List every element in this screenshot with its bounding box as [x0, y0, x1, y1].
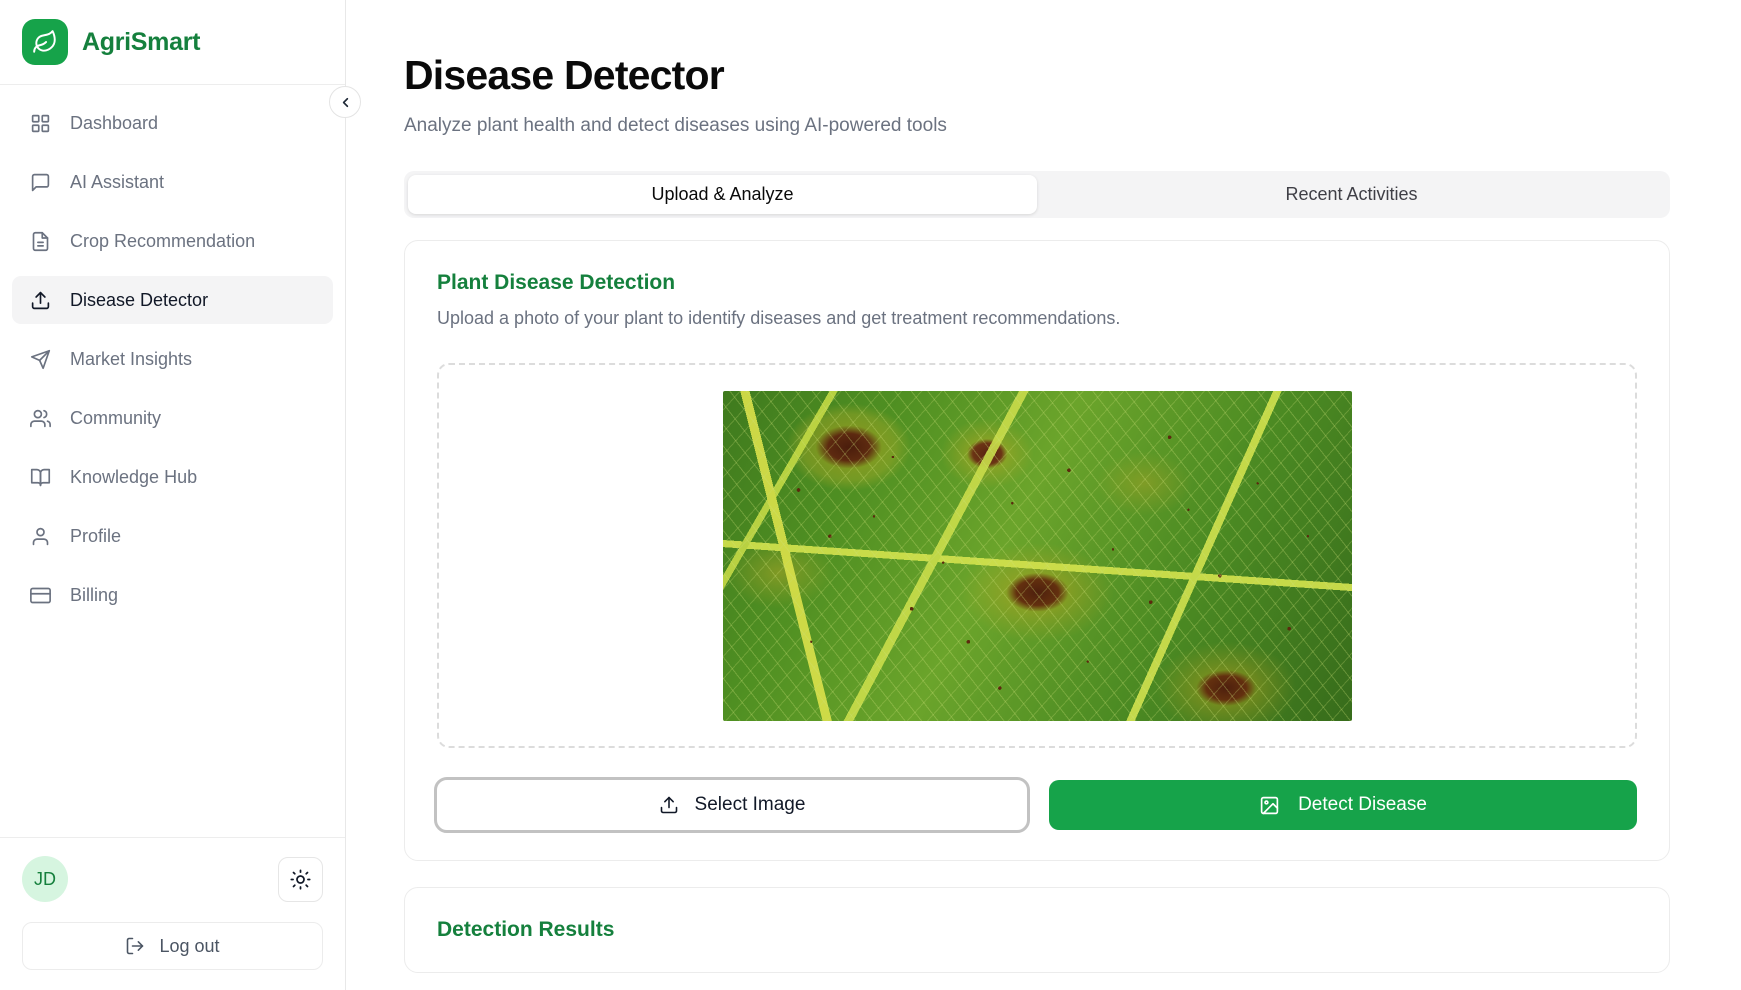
sidebar-item-label: Crop Recommendation: [70, 231, 255, 252]
sidebar-item-profile[interactable]: Profile: [12, 512, 333, 560]
leaf-icon: [22, 19, 68, 65]
sidebar-item-label: Profile: [70, 526, 121, 547]
card-actions: Select Image Detect Disease: [437, 780, 1637, 830]
grid-icon: [28, 111, 52, 135]
page-title: Disease Detector: [404, 52, 1701, 99]
sidebar-footer: JD Log out: [0, 837, 345, 990]
credit-card-icon: [28, 583, 52, 607]
tab-recent-activities[interactable]: Recent Activities: [1037, 175, 1666, 214]
sidebar-item-ai-assistant[interactable]: AI Assistant: [12, 158, 333, 206]
sidebar-item-label: AI Assistant: [70, 172, 164, 193]
sidebar-item-label: Community: [70, 408, 161, 429]
upload-icon: [28, 288, 52, 312]
book-open-icon: [28, 465, 52, 489]
sidebar-item-market-insights[interactable]: Market Insights: [12, 335, 333, 383]
detect-disease-label: Detect Disease: [1298, 794, 1427, 816]
app-root: AgriSmart Dashboard AI Assistant: [0, 0, 1741, 990]
plant-disease-detection-card: Plant Disease Detection Upload a photo o…: [404, 240, 1670, 861]
sidebar-item-crop-recommendation[interactable]: Crop Recommendation: [12, 217, 333, 265]
logout-label: Log out: [159, 936, 219, 957]
detect-disease-button[interactable]: Detect Disease: [1049, 780, 1637, 830]
card-description: Upload a photo of your plant to identify…: [437, 308, 1637, 329]
main-content: Disease Detector Analyze plant health an…: [346, 0, 1741, 990]
sidebar-item-billing[interactable]: Billing: [12, 571, 333, 619]
sidebar-item-label: Market Insights: [70, 349, 192, 370]
page-subtitle: Analyze plant health and detect diseases…: [404, 115, 1701, 137]
image-icon: [1259, 795, 1280, 816]
sidebar-item-dashboard[interactable]: Dashboard: [12, 99, 333, 147]
select-image-label: Select Image: [695, 794, 806, 816]
tab-upload-analyze[interactable]: Upload & Analyze: [408, 175, 1037, 214]
upload-icon: [659, 795, 679, 815]
brand-header: AgriSmart: [0, 0, 345, 85]
detection-results-title: Detection Results: [437, 918, 1637, 942]
message-square-icon: [28, 170, 52, 194]
sidebar-item-disease-detector[interactable]: Disease Detector: [12, 276, 333, 324]
sidebar-item-label: Dashboard: [70, 113, 158, 134]
chevron-left-icon: [338, 95, 353, 110]
logout-button[interactable]: Log out: [22, 922, 323, 970]
users-icon: [28, 406, 52, 430]
image-dropzone[interactable]: [437, 363, 1637, 748]
brand-name: AgriSmart: [82, 28, 200, 57]
select-image-button[interactable]: Select Image: [437, 780, 1027, 830]
send-icon: [28, 347, 52, 371]
sidebar: AgriSmart Dashboard AI Assistant: [0, 0, 346, 990]
sidebar-item-label: Billing: [70, 585, 118, 606]
detection-results-card: Detection Results: [404, 887, 1670, 973]
sidebar-item-knowledge-hub[interactable]: Knowledge Hub: [12, 453, 333, 501]
leaf-preview-image: [723, 391, 1352, 721]
tab-bar: Upload & Analyze Recent Activities: [404, 171, 1670, 218]
sidebar-collapse-button[interactable]: [329, 86, 361, 118]
theme-toggle-button[interactable]: [278, 857, 323, 902]
sidebar-item-label: Knowledge Hub: [70, 467, 197, 488]
log-out-icon: [125, 936, 145, 956]
user-icon: [28, 524, 52, 548]
sidebar-nav: Dashboard AI Assistant Crop Recommendati…: [0, 85, 345, 837]
file-text-icon: [28, 229, 52, 253]
card-title: Plant Disease Detection: [437, 271, 1637, 295]
sun-icon: [290, 869, 311, 890]
sidebar-item-community[interactable]: Community: [12, 394, 333, 442]
sidebar-item-label: Disease Detector: [70, 290, 208, 311]
avatar[interactable]: JD: [22, 856, 68, 902]
sidebar-footer-row: JD: [22, 856, 323, 902]
